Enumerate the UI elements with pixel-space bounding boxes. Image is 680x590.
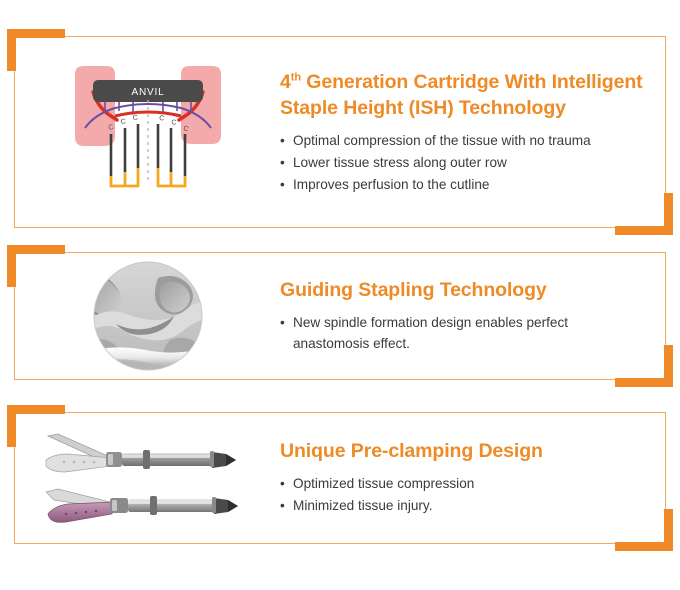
bullet-dot-icon: • xyxy=(280,152,285,173)
card-3-bullet-list: •Optimized tissue compression •Minimized… xyxy=(280,473,643,516)
bullet-dot-icon: • xyxy=(280,495,285,516)
card-1-title-number: 4 xyxy=(280,71,291,93)
bullet-dot-icon: • xyxy=(280,174,285,195)
bullet-text: Improves perfusion to the cutline xyxy=(293,177,489,192)
card-3-title: Unique Pre-clamping Design xyxy=(280,439,643,464)
bullet-text: Minimized tissue injury. xyxy=(293,498,433,513)
staple-label: C xyxy=(158,115,164,122)
feature-card-1: ANVIL C C C C C C xyxy=(14,36,666,228)
card-1-bullet-list: •Optimal compression of the tissue with … xyxy=(280,130,643,195)
card-1-title-ordinal: th xyxy=(291,72,301,84)
list-item: •Minimized tissue injury. xyxy=(280,495,643,516)
list-item: •Optimal compression of the tissue with … xyxy=(280,130,643,151)
bullet-text: Optimal compression of the tissue with n… xyxy=(293,133,591,148)
bullet-text: Lower tissue stress along outer row xyxy=(293,155,507,170)
bullet-text: New spindle formation design enables per… xyxy=(293,315,568,351)
staple-label: C xyxy=(132,114,138,121)
card-3-illustration xyxy=(15,413,280,543)
card-2-illustration xyxy=(15,253,280,379)
card-1-title: 4th Generation Cartridge With Intelligen… xyxy=(280,70,643,121)
spindle-formation-microscopy-circle-icon xyxy=(92,260,204,372)
card-1-title-rest: Generation Cartridge With Intelligent St… xyxy=(280,71,643,119)
list-item: •Improves perfusion to the cutline xyxy=(280,174,643,195)
instrument-bottom xyxy=(46,489,238,522)
list-item: •Lower tissue stress along outer row xyxy=(280,152,643,173)
feature-card-3: Unique Pre-clamping Design •Optimized ti… xyxy=(14,412,666,544)
anvil-staple-diagram-icon: ANVIL C C C C C C xyxy=(53,52,243,212)
card-1-illustration: ANVIL C C C C C C xyxy=(15,37,280,227)
card-2-bullet-list: •New spindle formation design enables pe… xyxy=(280,312,643,354)
feature-card-2: Guiding Stapling Technology •New spindle… xyxy=(14,252,666,380)
bullet-dot-icon: • xyxy=(280,473,285,494)
staple-label: C xyxy=(170,119,176,127)
list-item: •Optimized tissue compression xyxy=(280,473,643,494)
bullet-dot-icon: • xyxy=(280,312,285,333)
bullet-text: Optimized tissue compression xyxy=(293,476,474,491)
bullet-dot-icon: • xyxy=(280,130,285,151)
staple-label: C xyxy=(120,118,126,126)
infographic-page: ANVIL C C C C C C xyxy=(0,0,680,590)
card-2-title: Guiding Stapling Technology xyxy=(280,278,643,303)
anvil-label: ANVIL xyxy=(131,87,164,98)
instrument-top xyxy=(46,434,236,472)
endoscopic-linear-cutter-instruments-icon xyxy=(40,426,255,530)
list-item: •New spindle formation design enables pe… xyxy=(280,312,643,354)
